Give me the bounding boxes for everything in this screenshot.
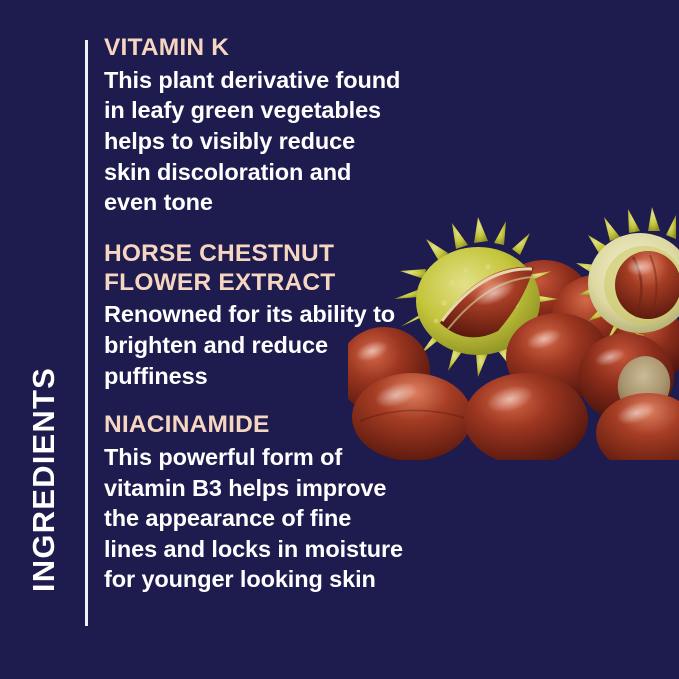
ingredient-heading-vitamin-k: VITAMIN K: [104, 34, 404, 63]
ingredient-block-vitamin-k: VITAMIN K This plant derivative found in…: [104, 34, 404, 218]
vertical-divider-rule: [85, 40, 88, 626]
ingredient-body-vitamin-k: This plant derivative found in leafy gre…: [104, 65, 404, 218]
ingredient-body-niacinamide: This powerful form of vitamin B3 helps i…: [104, 442, 404, 595]
horse-chestnuts-photo: [348, 205, 679, 460]
ingredients-panel: INGREDIENTS VITAMIN K This plant derivat…: [0, 0, 679, 679]
ingredients-label-text: INGREDIENTS: [28, 367, 59, 592]
section-label-ingredients: INGREDIENTS: [0, 330, 86, 630]
